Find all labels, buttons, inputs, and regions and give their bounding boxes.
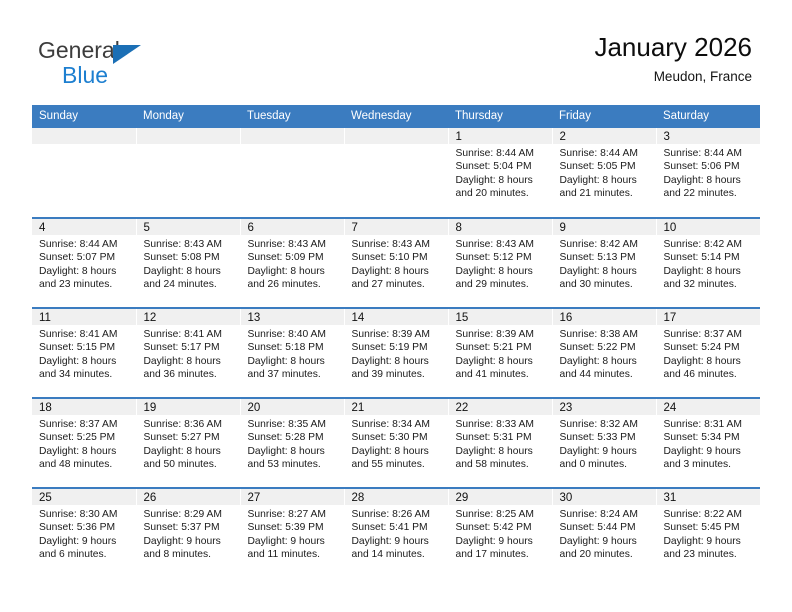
- daylight-text-line2: and 6 minutes.: [39, 548, 130, 561]
- sunrise-text: Sunrise: 8:44 AM: [39, 238, 130, 251]
- page-title: January 2026: [594, 32, 752, 62]
- sunrise-text: Sunrise: 8:35 AM: [248, 418, 338, 431]
- daylight-text-line1: Daylight: 9 hours: [456, 535, 546, 548]
- day-details: Sunrise: 8:29 AMSunset: 5:37 PMDaylight:…: [137, 505, 240, 562]
- daylight-text-line2: and 55 minutes.: [352, 458, 442, 471]
- sunset-text: Sunset: 5:13 PM: [560, 251, 650, 264]
- sunset-text: Sunset: 5:19 PM: [352, 341, 442, 354]
- sunset-text: Sunset: 5:44 PM: [560, 521, 650, 534]
- sunset-text: Sunset: 5:21 PM: [456, 341, 546, 354]
- triangle-icon: [113, 45, 141, 64]
- sunset-text: Sunset: 5:27 PM: [144, 431, 234, 444]
- calendar-table: Sunday Monday Tuesday Wednesday Thursday…: [32, 105, 760, 578]
- calendar-day-cell[interactable]: 1Sunrise: 8:44 AMSunset: 5:04 PMDaylight…: [448, 128, 552, 218]
- sunset-text: Sunset: 5:36 PM: [39, 521, 130, 534]
- sunset-text: Sunset: 5:15 PM: [39, 341, 130, 354]
- day-number: 29: [449, 489, 552, 505]
- day-details: Sunrise: 8:42 AMSunset: 5:13 PMDaylight:…: [553, 235, 656, 292]
- daylight-text-line1: Daylight: 8 hours: [144, 355, 234, 368]
- day-number: 14: [345, 309, 448, 325]
- daylight-text-line1: Daylight: 8 hours: [456, 174, 546, 187]
- sunrise-text: Sunrise: 8:38 AM: [560, 328, 650, 341]
- daylight-text-line2: and 58 minutes.: [456, 458, 546, 471]
- day-number: 16: [553, 309, 656, 325]
- daylight-text-line1: Daylight: 9 hours: [664, 535, 755, 548]
- calendar-day-cell[interactable]: 3Sunrise: 8:44 AMSunset: 5:06 PMDaylight…: [656, 128, 760, 218]
- day-details: Sunrise: 8:33 AMSunset: 5:31 PMDaylight:…: [449, 415, 552, 472]
- sunrise-text: Sunrise: 8:43 AM: [248, 238, 338, 251]
- daylight-text-line2: and 48 minutes.: [39, 458, 130, 471]
- day-details: Sunrise: 8:43 AMSunset: 5:08 PMDaylight:…: [137, 235, 240, 292]
- daylight-text-line1: Daylight: 8 hours: [144, 265, 234, 278]
- day-number: 28: [345, 489, 448, 505]
- daylight-text-line1: Daylight: 9 hours: [248, 535, 338, 548]
- sunrise-text: Sunrise: 8:26 AM: [352, 508, 442, 521]
- daylight-text-line1: Daylight: 8 hours: [39, 355, 130, 368]
- sunset-text: Sunset: 5:04 PM: [456, 160, 546, 173]
- calendar-cell-empty: [136, 128, 240, 218]
- sunset-text: Sunset: 5:30 PM: [352, 431, 442, 444]
- weekday-header-row: Sunday Monday Tuesday Wednesday Thursday…: [32, 105, 760, 128]
- sunrise-text: Sunrise: 8:42 AM: [664, 238, 755, 251]
- day-details: Sunrise: 8:39 AMSunset: 5:21 PMDaylight:…: [449, 325, 552, 382]
- sunrise-text: Sunrise: 8:34 AM: [352, 418, 442, 431]
- day-number: 10: [657, 219, 761, 235]
- day-number: 15: [449, 309, 552, 325]
- sunrise-text: Sunrise: 8:44 AM: [560, 147, 650, 160]
- day-number: 26: [137, 489, 240, 505]
- calendar-week-row: 11Sunrise: 8:41 AMSunset: 5:15 PMDayligh…: [32, 308, 760, 398]
- sunrise-text: Sunrise: 8:22 AM: [664, 508, 755, 521]
- sunrise-text: Sunrise: 8:43 AM: [144, 238, 234, 251]
- weekday-header-wednesday: Wednesday: [344, 105, 448, 128]
- calendar-day-cell[interactable]: 8Sunrise: 8:43 AMSunset: 5:12 PMDaylight…: [448, 218, 552, 308]
- sunrise-text: Sunrise: 8:37 AM: [39, 418, 130, 431]
- day-number: 8: [449, 219, 552, 235]
- day-number: 30: [553, 489, 656, 505]
- calendar-day-cell[interactable]: 12Sunrise: 8:41 AMSunset: 5:17 PMDayligh…: [136, 308, 240, 398]
- daylight-text-line1: Daylight: 9 hours: [664, 445, 755, 458]
- day-number: 5: [137, 219, 240, 235]
- sunset-text: Sunset: 5:14 PM: [664, 251, 755, 264]
- calendar-week-row: 1Sunrise: 8:44 AMSunset: 5:04 PMDaylight…: [32, 128, 760, 218]
- sunset-text: Sunset: 5:24 PM: [664, 341, 755, 354]
- sunrise-text: Sunrise: 8:24 AM: [560, 508, 650, 521]
- daylight-text-line1: Daylight: 8 hours: [560, 355, 650, 368]
- daylight-text-line2: and 37 minutes.: [248, 368, 338, 381]
- calendar-day-cell[interactable]: 23Sunrise: 8:32 AMSunset: 5:33 PMDayligh…: [552, 398, 656, 488]
- day-number: 4: [32, 219, 136, 235]
- daylight-text-line1: Daylight: 9 hours: [560, 535, 650, 548]
- daylight-text-line1: Daylight: 8 hours: [456, 265, 546, 278]
- sunset-text: Sunset: 5:05 PM: [560, 160, 650, 173]
- sunset-text: Sunset: 5:17 PM: [144, 341, 234, 354]
- sunset-text: Sunset: 5:34 PM: [664, 431, 755, 444]
- daylight-text-line2: and 20 minutes.: [560, 548, 650, 561]
- sunrise-text: Sunrise: 8:37 AM: [664, 328, 755, 341]
- page-header: General Blue January 2026 Meudon, France: [0, 0, 792, 104]
- daylight-text-line1: Daylight: 9 hours: [560, 445, 650, 458]
- daylight-text-line2: and 53 minutes.: [248, 458, 338, 471]
- daylight-text-line1: Daylight: 8 hours: [144, 445, 234, 458]
- calendar-week-row: 25Sunrise: 8:30 AMSunset: 5:36 PMDayligh…: [32, 488, 760, 578]
- day-details: Sunrise: 8:22 AMSunset: 5:45 PMDaylight:…: [657, 505, 761, 562]
- day-number: 23: [553, 399, 656, 415]
- sunset-text: Sunset: 5:06 PM: [664, 160, 755, 173]
- daylight-text-line2: and 11 minutes.: [248, 548, 338, 561]
- sunset-text: Sunset: 5:39 PM: [248, 521, 338, 534]
- daylight-text-line2: and 34 minutes.: [39, 368, 130, 381]
- day-number: 9: [553, 219, 656, 235]
- weekday-header-saturday: Saturday: [656, 105, 760, 128]
- daylight-text-line2: and 50 minutes.: [144, 458, 234, 471]
- sunrise-text: Sunrise: 8:39 AM: [456, 328, 546, 341]
- daylight-text-line1: Daylight: 8 hours: [664, 174, 755, 187]
- daylight-text-line1: Daylight: 9 hours: [144, 535, 234, 548]
- daylight-text-line1: Daylight: 8 hours: [248, 355, 338, 368]
- sunset-text: Sunset: 5:45 PM: [664, 521, 755, 534]
- day-number: [241, 128, 344, 144]
- weekday-header-thursday: Thursday: [448, 105, 552, 128]
- calendar-day-cell[interactable]: 9Sunrise: 8:42 AMSunset: 5:13 PMDaylight…: [552, 218, 656, 308]
- sunrise-text: Sunrise: 8:27 AM: [248, 508, 338, 521]
- weekday-header-monday: Monday: [136, 105, 240, 128]
- sunset-text: Sunset: 5:25 PM: [39, 431, 130, 444]
- calendar-day-cell[interactable]: 26Sunrise: 8:29 AMSunset: 5:37 PMDayligh…: [136, 488, 240, 578]
- daylight-text-line2: and 29 minutes.: [456, 278, 546, 291]
- daylight-text-line2: and 17 minutes.: [456, 548, 546, 561]
- day-details: Sunrise: 8:43 AMSunset: 5:09 PMDaylight:…: [241, 235, 344, 292]
- sunset-text: Sunset: 5:22 PM: [560, 341, 650, 354]
- day-details: Sunrise: 8:32 AMSunset: 5:33 PMDaylight:…: [553, 415, 656, 472]
- calendar-day-cell[interactable]: 22Sunrise: 8:33 AMSunset: 5:31 PMDayligh…: [448, 398, 552, 488]
- calendar-cell-empty: [32, 128, 136, 218]
- day-number: 17: [657, 309, 761, 325]
- daylight-text-line1: Daylight: 8 hours: [39, 265, 130, 278]
- daylight-text-line2: and 23 minutes.: [39, 278, 130, 291]
- day-number: 21: [345, 399, 448, 415]
- calendar-day-cell[interactable]: 10Sunrise: 8:42 AMSunset: 5:14 PMDayligh…: [656, 218, 760, 308]
- day-details: Sunrise: 8:24 AMSunset: 5:44 PMDaylight:…: [553, 505, 656, 562]
- calendar-day-cell[interactable]: 5Sunrise: 8:43 AMSunset: 5:08 PMDaylight…: [136, 218, 240, 308]
- sunset-text: Sunset: 5:10 PM: [352, 251, 442, 264]
- day-number: 3: [657, 128, 761, 144]
- daylight-text-line2: and 30 minutes.: [560, 278, 650, 291]
- daylight-text-line2: and 36 minutes.: [144, 368, 234, 381]
- day-details: Sunrise: 8:39 AMSunset: 5:19 PMDaylight:…: [345, 325, 448, 382]
- day-details: Sunrise: 8:34 AMSunset: 5:30 PMDaylight:…: [345, 415, 448, 472]
- day-details: Sunrise: 8:38 AMSunset: 5:22 PMDaylight:…: [553, 325, 656, 382]
- day-number: 22: [449, 399, 552, 415]
- calendar-day-cell[interactable]: 29Sunrise: 8:25 AMSunset: 5:42 PMDayligh…: [448, 488, 552, 578]
- day-details: Sunrise: 8:43 AMSunset: 5:10 PMDaylight:…: [345, 235, 448, 292]
- day-number: 12: [137, 309, 240, 325]
- calendar-day-cell[interactable]: 6Sunrise: 8:43 AMSunset: 5:09 PMDaylight…: [240, 218, 344, 308]
- sunset-text: Sunset: 5:42 PM: [456, 521, 546, 534]
- calendar-cell-empty: [240, 128, 344, 218]
- sunrise-text: Sunrise: 8:32 AM: [560, 418, 650, 431]
- sunrise-text: Sunrise: 8:40 AM: [248, 328, 338, 341]
- sunrise-text: Sunrise: 8:33 AM: [456, 418, 546, 431]
- calendar-day-cell[interactable]: 15Sunrise: 8:39 AMSunset: 5:21 PMDayligh…: [448, 308, 552, 398]
- daylight-text-line2: and 27 minutes.: [352, 278, 442, 291]
- day-details: Sunrise: 8:25 AMSunset: 5:42 PMDaylight:…: [449, 505, 552, 562]
- calendar-body: 1Sunrise: 8:44 AMSunset: 5:04 PMDaylight…: [32, 128, 760, 578]
- day-details: Sunrise: 8:44 AMSunset: 5:05 PMDaylight:…: [553, 144, 656, 201]
- sunset-text: Sunset: 5:41 PM: [352, 521, 442, 534]
- calendar-day-cell[interactable]: 24Sunrise: 8:31 AMSunset: 5:34 PMDayligh…: [656, 398, 760, 488]
- day-details: Sunrise: 8:44 AMSunset: 5:07 PMDaylight:…: [32, 235, 136, 292]
- daylight-text-line2: and 24 minutes.: [144, 278, 234, 291]
- day-details: Sunrise: 8:35 AMSunset: 5:28 PMDaylight:…: [241, 415, 344, 472]
- calendar-day-cell[interactable]: 31Sunrise: 8:22 AMSunset: 5:45 PMDayligh…: [656, 488, 760, 578]
- day-number: [345, 128, 448, 144]
- sunset-text: Sunset: 5:28 PM: [248, 431, 338, 444]
- daylight-text-line1: Daylight: 8 hours: [352, 445, 442, 458]
- calendar-week-row: 4Sunrise: 8:44 AMSunset: 5:07 PMDaylight…: [32, 218, 760, 308]
- day-number: 27: [241, 489, 344, 505]
- day-number: 6: [241, 219, 344, 235]
- daylight-text-line2: and 8 minutes.: [144, 548, 234, 561]
- calendar-day-cell[interactable]: 2Sunrise: 8:44 AMSunset: 5:05 PMDaylight…: [552, 128, 656, 218]
- general-blue-logo[interactable]: General Blue: [38, 38, 218, 90]
- daylight-text-line1: Daylight: 8 hours: [560, 174, 650, 187]
- sunrise-text: Sunrise: 8:43 AM: [352, 238, 442, 251]
- daylight-text-line1: Daylight: 8 hours: [560, 265, 650, 278]
- day-number: 2: [553, 128, 656, 144]
- calendar-day-cell[interactable]: 14Sunrise: 8:39 AMSunset: 5:19 PMDayligh…: [344, 308, 448, 398]
- daylight-text-line2: and 22 minutes.: [664, 187, 755, 200]
- calendar-day-cell[interactable]: 25Sunrise: 8:30 AMSunset: 5:36 PMDayligh…: [32, 488, 136, 578]
- daylight-text-line1: Daylight: 8 hours: [456, 355, 546, 368]
- calendar-day-cell[interactable]: 13Sunrise: 8:40 AMSunset: 5:18 PMDayligh…: [240, 308, 344, 398]
- day-number: 24: [657, 399, 761, 415]
- day-number: 19: [137, 399, 240, 415]
- daylight-text-line1: Daylight: 8 hours: [39, 445, 130, 458]
- sunrise-text: Sunrise: 8:31 AM: [664, 418, 755, 431]
- weekday-header-friday: Friday: [552, 105, 656, 128]
- daylight-text-line2: and 20 minutes.: [456, 187, 546, 200]
- calendar-day-cell[interactable]: 17Sunrise: 8:37 AMSunset: 5:24 PMDayligh…: [656, 308, 760, 398]
- sunrise-text: Sunrise: 8:43 AM: [456, 238, 546, 251]
- daylight-text-line2: and 32 minutes.: [664, 278, 755, 291]
- calendar-day-cell[interactable]: 20Sunrise: 8:35 AMSunset: 5:28 PMDayligh…: [240, 398, 344, 488]
- logo-text-blue: Blue: [62, 63, 218, 87]
- day-details: Sunrise: 8:40 AMSunset: 5:18 PMDaylight:…: [241, 325, 344, 382]
- day-details: Sunrise: 8:42 AMSunset: 5:14 PMDaylight:…: [657, 235, 761, 292]
- calendar-day-cell[interactable]: 7Sunrise: 8:43 AMSunset: 5:10 PMDaylight…: [344, 218, 448, 308]
- daylight-text-line2: and 44 minutes.: [560, 368, 650, 381]
- day-details: Sunrise: 8:31 AMSunset: 5:34 PMDaylight:…: [657, 415, 761, 472]
- sunset-text: Sunset: 5:09 PM: [248, 251, 338, 264]
- sunrise-text: Sunrise: 8:36 AM: [144, 418, 234, 431]
- day-details: Sunrise: 8:37 AMSunset: 5:24 PMDaylight:…: [657, 325, 761, 382]
- sunset-text: Sunset: 5:08 PM: [144, 251, 234, 264]
- sunset-text: Sunset: 5:37 PM: [144, 521, 234, 534]
- daylight-text-line1: Daylight: 8 hours: [352, 355, 442, 368]
- sunrise-text: Sunrise: 8:30 AM: [39, 508, 130, 521]
- calendar-week-row: 18Sunrise: 8:37 AMSunset: 5:25 PMDayligh…: [32, 398, 760, 488]
- day-details: Sunrise: 8:37 AMSunset: 5:25 PMDaylight:…: [32, 415, 136, 472]
- daylight-text-line1: Daylight: 8 hours: [248, 265, 338, 278]
- day-number: 11: [32, 309, 136, 325]
- day-details: Sunrise: 8:41 AMSunset: 5:15 PMDaylight:…: [32, 325, 136, 382]
- daylight-text-line1: Daylight: 8 hours: [456, 445, 546, 458]
- sunset-text: Sunset: 5:12 PM: [456, 251, 546, 264]
- daylight-text-line1: Daylight: 9 hours: [39, 535, 130, 548]
- sunrise-text: Sunrise: 8:39 AM: [352, 328, 442, 341]
- day-number: 13: [241, 309, 344, 325]
- day-details: Sunrise: 8:27 AMSunset: 5:39 PMDaylight:…: [241, 505, 344, 562]
- day-number: [137, 128, 240, 144]
- sunrise-text: Sunrise: 8:44 AM: [456, 147, 546, 160]
- calendar-day-cell[interactable]: 28Sunrise: 8:26 AMSunset: 5:41 PMDayligh…: [344, 488, 448, 578]
- daylight-text-line1: Daylight: 8 hours: [664, 355, 755, 368]
- weekday-header-sunday: Sunday: [32, 105, 136, 128]
- sunrise-text: Sunrise: 8:41 AM: [39, 328, 130, 341]
- weekday-header-tuesday: Tuesday: [240, 105, 344, 128]
- title-block: January 2026 Meudon, France: [594, 32, 752, 86]
- day-details: Sunrise: 8:44 AMSunset: 5:04 PMDaylight:…: [449, 144, 552, 201]
- calendar-day-cell[interactable]: 19Sunrise: 8:36 AMSunset: 5:27 PMDayligh…: [136, 398, 240, 488]
- daylight-text-line2: and 26 minutes.: [248, 278, 338, 291]
- sunrise-text: Sunrise: 8:41 AM: [144, 328, 234, 341]
- daylight-text-line1: Daylight: 8 hours: [664, 265, 755, 278]
- sunrise-text: Sunrise: 8:25 AM: [456, 508, 546, 521]
- day-number: 18: [32, 399, 136, 415]
- day-details: Sunrise: 8:41 AMSunset: 5:17 PMDaylight:…: [137, 325, 240, 382]
- day-number: 1: [449, 128, 552, 144]
- location-subtitle: Meudon, France: [594, 68, 752, 86]
- sunrise-text: Sunrise: 8:44 AM: [664, 147, 755, 160]
- day-details: Sunrise: 8:36 AMSunset: 5:27 PMDaylight:…: [137, 415, 240, 472]
- calendar-day-cell[interactable]: 16Sunrise: 8:38 AMSunset: 5:22 PMDayligh…: [552, 308, 656, 398]
- daylight-text-line2: and 46 minutes.: [664, 368, 755, 381]
- daylight-text-line2: and 41 minutes.: [456, 368, 546, 381]
- daylight-text-line1: Daylight: 8 hours: [248, 445, 338, 458]
- sunrise-text: Sunrise: 8:29 AM: [144, 508, 234, 521]
- daylight-text-line1: Daylight: 8 hours: [352, 265, 442, 278]
- calendar-cell-empty: [344, 128, 448, 218]
- daylight-text-line1: Daylight: 9 hours: [352, 535, 442, 548]
- day-details: Sunrise: 8:43 AMSunset: 5:12 PMDaylight:…: [449, 235, 552, 292]
- daylight-text-line2: and 0 minutes.: [560, 458, 650, 471]
- day-number: [32, 128, 136, 144]
- daylight-text-line2: and 3 minutes.: [664, 458, 755, 471]
- calendar-day-cell[interactable]: 18Sunrise: 8:37 AMSunset: 5:25 PMDayligh…: [32, 398, 136, 488]
- day-details: Sunrise: 8:26 AMSunset: 5:41 PMDaylight:…: [345, 505, 448, 562]
- daylight-text-line2: and 23 minutes.: [664, 548, 755, 561]
- day-details: Sunrise: 8:44 AMSunset: 5:06 PMDaylight:…: [657, 144, 761, 201]
- day-number: 25: [32, 489, 136, 505]
- sunrise-text: Sunrise: 8:42 AM: [560, 238, 650, 251]
- day-number: 20: [241, 399, 344, 415]
- day-details: Sunrise: 8:30 AMSunset: 5:36 PMDaylight:…: [32, 505, 136, 562]
- sunset-text: Sunset: 5:07 PM: [39, 251, 130, 264]
- sunset-text: Sunset: 5:33 PM: [560, 431, 650, 444]
- day-number: 7: [345, 219, 448, 235]
- calendar-day-cell[interactable]: 4Sunrise: 8:44 AMSunset: 5:07 PMDaylight…: [32, 218, 136, 308]
- daylight-text-line2: and 21 minutes.: [560, 187, 650, 200]
- daylight-text-line2: and 14 minutes.: [352, 548, 442, 561]
- sunset-text: Sunset: 5:18 PM: [248, 341, 338, 354]
- calendar-day-cell[interactable]: 11Sunrise: 8:41 AMSunset: 5:15 PMDayligh…: [32, 308, 136, 398]
- calendar-day-cell[interactable]: 27Sunrise: 8:27 AMSunset: 5:39 PMDayligh…: [240, 488, 344, 578]
- calendar-day-cell[interactable]: 30Sunrise: 8:24 AMSunset: 5:44 PMDayligh…: [552, 488, 656, 578]
- sunset-text: Sunset: 5:31 PM: [456, 431, 546, 444]
- calendar-day-cell[interactable]: 21Sunrise: 8:34 AMSunset: 5:30 PMDayligh…: [344, 398, 448, 488]
- calendar-page: General Blue January 2026 Meudon, France…: [0, 0, 792, 612]
- daylight-text-line2: and 39 minutes.: [352, 368, 442, 381]
- day-number: 31: [657, 489, 761, 505]
